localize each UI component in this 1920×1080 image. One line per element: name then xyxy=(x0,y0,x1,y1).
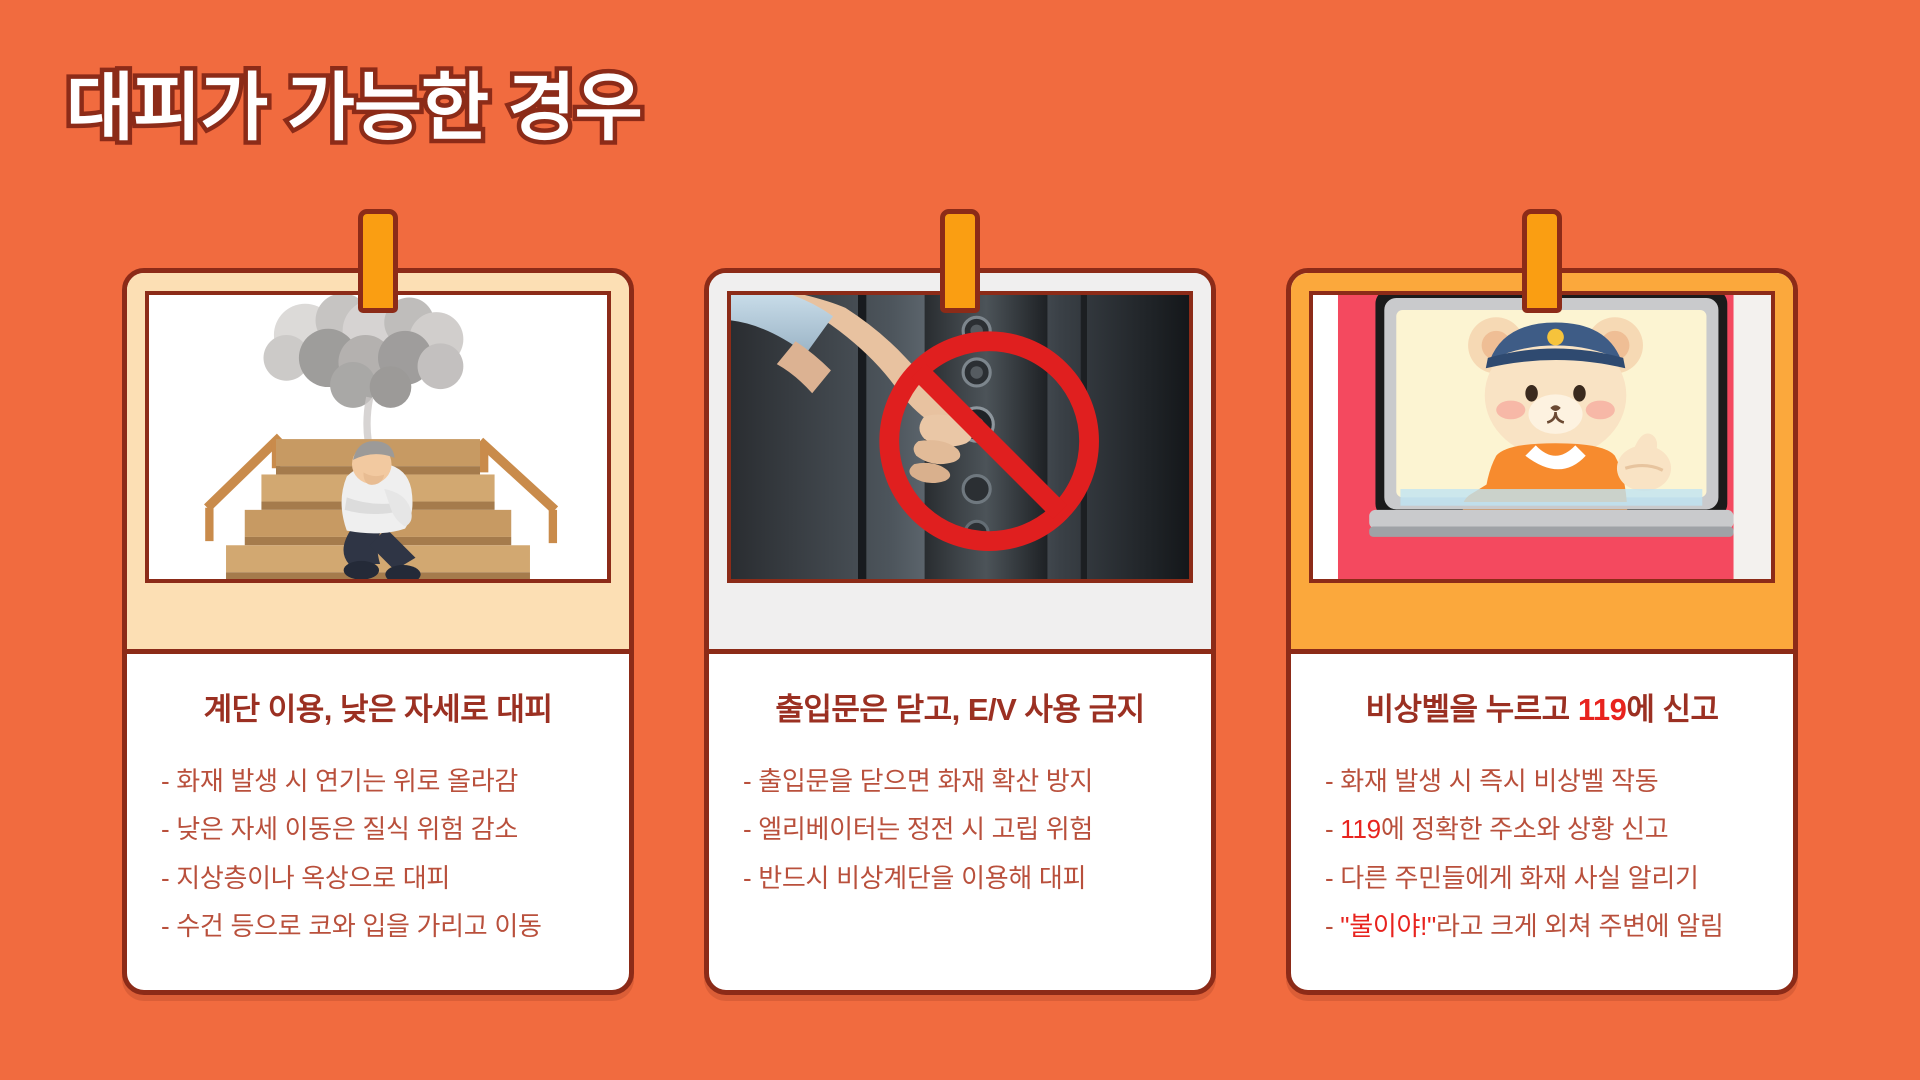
bullet-highlight: 119 xyxy=(1340,814,1381,844)
info-card-2: 출입문은 닫고, E/V 사용 금지 - 출입문을 닫으면 화재 확산 방지 -… xyxy=(704,268,1216,995)
card-1-image xyxy=(145,291,611,583)
bullet-highlight: "불이야!" xyxy=(1340,911,1436,941)
bullet-item: - 반드시 비상계단을 이용해 대피 xyxy=(743,854,1193,902)
photo-mat-3 xyxy=(1291,273,1793,654)
card-2-image xyxy=(727,291,1193,583)
bullet-item: - 다른 주민들에게 화재 사실 알리기 xyxy=(1325,854,1775,902)
bullet-dash: - xyxy=(1325,814,1340,844)
bullet-rest: 라고 크게 외쳐 주변에 알림 xyxy=(1436,911,1724,941)
bullet-item: - 출입문을 닫으면 화재 확산 방지 xyxy=(743,757,1193,805)
card-2-heading: 출입문은 닫고, E/V 사용 금지 xyxy=(727,684,1193,729)
photo-mat-2 xyxy=(709,273,1211,654)
bullet-item: - 엘리베이터는 정전 시 고립 위험 xyxy=(743,805,1193,853)
card-3-text: 비상벨을 누르고 119에 신고 - 화재 발생 시 즉시 비상벨 작동 - 1… xyxy=(1291,654,1793,990)
clothespin-clip-icon xyxy=(940,209,980,313)
clothespin-clip-icon xyxy=(358,209,398,313)
bullet-item: - 화재 발생 시 즉시 비상벨 작동 xyxy=(1325,757,1775,805)
clothespin-clip-icon xyxy=(1522,209,1562,313)
card-1-heading: 계단 이용, 낮은 자세로 대피 xyxy=(145,684,611,729)
bullet-item: - 화재 발생 시 연기는 위로 올라감 xyxy=(161,757,611,805)
heading-highlight: 119 xyxy=(1578,692,1627,727)
bullet-item: - 낮은 자세 이동은 질식 위험 감소 xyxy=(161,805,611,853)
info-card-1: 계단 이용, 낮은 자세로 대피 - 화재 발생 시 연기는 위로 올라감 - … xyxy=(122,268,634,995)
card-1-text: 계단 이용, 낮은 자세로 대피 - 화재 발생 시 연기는 위로 올라감 - … xyxy=(127,654,629,990)
bullet-item: - 수건 등으로 코와 입을 가리고 이동 xyxy=(161,902,611,950)
card-2-text: 출입문은 닫고, E/V 사용 금지 - 출입문을 닫으면 화재 확산 방지 -… xyxy=(709,654,1211,942)
bullet-item: - 지상층이나 옥상으로 대피 xyxy=(161,854,611,902)
card-3-image xyxy=(1309,291,1775,583)
bullet-item: - 119에 정확한 주소와 상황 신고 xyxy=(1325,805,1775,853)
page-title: 대피가 가능한 경우 xyxy=(66,48,642,155)
card-2-bullets: - 출입문을 닫으면 화재 확산 방지 - 엘리베이터는 정전 시 고립 위험 … xyxy=(727,757,1193,902)
info-card-3: 비상벨을 누르고 119에 신고 - 화재 발생 시 즉시 비상벨 작동 - 1… xyxy=(1286,268,1798,995)
bullet-rest: 에 정확한 주소와 상황 신고 xyxy=(1381,814,1669,844)
bullet-dash: - xyxy=(1325,911,1340,941)
card-row: 계단 이용, 낮은 자세로 대피 - 화재 발생 시 연기는 위로 올라감 - … xyxy=(0,268,1920,995)
card-1-bullets: - 화재 발생 시 연기는 위로 올라감 - 낮은 자세 이동은 질식 위험 감… xyxy=(145,757,611,950)
card-3-heading: 비상벨을 누르고 119에 신고 xyxy=(1309,684,1775,729)
photo-mat-1 xyxy=(127,273,629,654)
heading-part: 에 신고 xyxy=(1626,692,1718,727)
bullet-item: - "불이야!"라고 크게 외쳐 주변에 알림 xyxy=(1325,902,1775,950)
card-3-bullets: - 화재 발생 시 즉시 비상벨 작동 - 119에 정확한 주소와 상황 신고… xyxy=(1309,757,1775,950)
heading-part: 비상벨을 누르고 xyxy=(1365,692,1577,727)
